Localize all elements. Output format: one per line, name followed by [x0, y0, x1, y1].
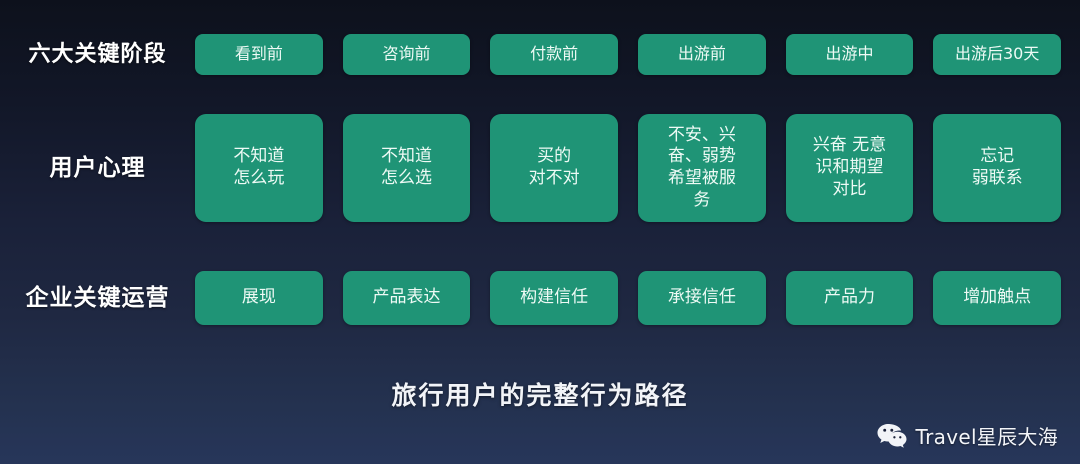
card-stage-5[interactable]: 出游中 — [786, 34, 914, 75]
card-stage-6[interactable]: 出游后30天 — [933, 34, 1061, 75]
slide-canvas: 六大关键阶段 看到前 咨询前 付款前 出游前 出游中 出游后30天 用户心理 不… — [0, 0, 1080, 464]
row-key-stages: 六大关键阶段 看到前 咨询前 付款前 出游前 出游中 出游后30天 — [0, 34, 1080, 75]
card-operation-6[interactable]: 增加触点 — [933, 271, 1061, 325]
row-label-user-psychology: 用户心理 — [0, 154, 195, 182]
card-stage-4[interactable]: 出游前 — [638, 34, 766, 75]
card-psychology-6[interactable]: 忘记 弱联系 — [933, 114, 1061, 222]
card-psychology-4[interactable]: 不安、兴 奋、弱势 希望被服 务 — [638, 114, 766, 222]
row-enterprise-operations: 企业关键运营 展现 产品表达 构建信任 承接信任 产品力 增加触点 — [0, 271, 1080, 325]
row-label-enterprise-operations: 企业关键运营 — [0, 284, 195, 312]
card-stage-1[interactable]: 看到前 — [195, 34, 323, 75]
card-group-user-psychology: 不知道 怎么玩 不知道 怎么选 买的 对不对 不安、兴 奋、弱势 希望被服 务 … — [195, 114, 1080, 222]
card-operation-5[interactable]: 产品力 — [786, 271, 914, 325]
card-stage-3[interactable]: 付款前 — [490, 34, 618, 75]
card-group-enterprise-operations: 展现 产品表达 构建信任 承接信任 产品力 增加触点 — [195, 271, 1080, 325]
watermark-label: Travel星辰大海 — [916, 421, 1058, 450]
card-group-key-stages: 看到前 咨询前 付款前 出游前 出游中 出游后30天 — [195, 34, 1080, 75]
card-operation-1[interactable]: 展现 — [195, 271, 323, 325]
card-psychology-1[interactable]: 不知道 怎么玩 — [195, 114, 323, 222]
card-psychology-2[interactable]: 不知道 怎么选 — [343, 114, 471, 222]
card-stage-2[interactable]: 咨询前 — [343, 34, 471, 75]
card-psychology-3[interactable]: 买的 对不对 — [490, 114, 618, 222]
card-psychology-5[interactable]: 兴奋 无意 识和期望 对比 — [786, 114, 914, 222]
wechat-icon — [877, 423, 907, 449]
slide-caption: 旅行用户的完整行为路径 — [0, 376, 1080, 412]
row-user-psychology: 用户心理 不知道 怎么玩 不知道 怎么选 买的 对不对 不安、兴 奋、弱势 希望… — [0, 114, 1080, 222]
row-label-key-stages: 六大关键阶段 — [0, 41, 195, 67]
card-operation-4[interactable]: 承接信任 — [638, 271, 766, 325]
card-operation-2[interactable]: 产品表达 — [343, 271, 471, 325]
card-operation-3[interactable]: 构建信任 — [490, 271, 618, 325]
watermark: Travel星辰大海 — [877, 421, 1058, 450]
